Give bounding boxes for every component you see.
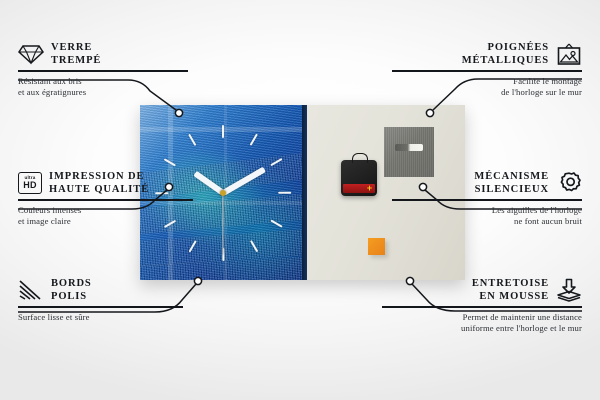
foam-spacer: [368, 238, 385, 255]
callout-sub-line2: ne font aucun bruit: [514, 216, 582, 226]
callout-rule: [18, 306, 183, 308]
callout-sub-line1: Permet de maintenir une distance: [463, 312, 582, 322]
infographic-canvas: + VERRE: [0, 0, 600, 400]
callout-title-line2: SILENCIEUX: [475, 184, 549, 195]
callout-title: POIGNÉES MÉTALLIQUES: [462, 41, 549, 67]
callout-verre-trempe: VERRE TREMPÉ Résistant aux bris et aux é…: [18, 41, 188, 98]
callout-title: BORDS POLIS: [51, 277, 92, 303]
callout-sub-line2: et image claire: [18, 216, 71, 226]
callout-header: POIGNÉES MÉTALLIQUES: [392, 41, 582, 67]
callout-rule: [18, 199, 193, 201]
battery-plus-terminal: +: [366, 185, 373, 192]
clock-tick: [249, 134, 258, 146]
callout-header: ENTRETOISE EN MOUSSE: [382, 277, 582, 303]
callout-title: IMPRESSION DE HAUTE QUALITÉ: [49, 170, 149, 196]
callout-bords-polis: BORDS POLIS Surface lisse et sûre: [18, 277, 183, 323]
callout-title-line2: TREMPÉ: [51, 55, 101, 66]
callout-sub-line2: de l'horloge sur le mur: [501, 87, 582, 97]
clock-hand-cap: [220, 190, 226, 196]
picture-frame-icon: [556, 43, 582, 66]
clock-tick: [278, 192, 291, 194]
clock-tick: [188, 134, 197, 146]
callout-title-line1: IMPRESSION DE: [49, 171, 144, 182]
callout-sub-line1: Facilite le montage: [513, 76, 582, 86]
callout-title-line1: VERRE: [51, 42, 92, 53]
callout-subtitle: Couleurs intenses et image claire: [18, 205, 193, 227]
callout-sub-line1: Résistant aux bris: [18, 76, 82, 86]
callout-mecanisme-silencieux: MÉCANISME SILENCIEUX Les aiguilles de l'…: [392, 170, 582, 227]
callout-title-line1: POIGNÉES: [488, 42, 549, 53]
mechanism-hanger-loop: [352, 153, 368, 163]
callout-impression-haute-qualite: ultra HD IMPRESSION DE HAUTE QUALITÉ Cou…: [18, 170, 193, 227]
hd-badge-big-text: HD: [23, 181, 37, 190]
callout-sub-line1: Surface lisse et sûre: [18, 312, 90, 322]
clock-mechanism: +: [341, 160, 377, 196]
callout-subtitle: Surface lisse et sûre: [18, 312, 183, 323]
diamond-icon: [18, 43, 44, 65]
callout-sub-line1: Couleurs intenses: [18, 205, 81, 215]
callout-rule: [392, 199, 582, 201]
callout-subtitle: Permet de maintenir une distance uniform…: [382, 312, 582, 334]
callout-entretoise-en-mousse: ENTRETOISE EN MOUSSE Permet de maintenir…: [382, 277, 582, 334]
callout-sub-line1: Les aiguilles de l'horloge: [492, 205, 582, 215]
callout-title: MÉCANISME SILENCIEUX: [474, 170, 549, 196]
callout-header: BORDS POLIS: [18, 277, 183, 303]
callout-subtitle: Facilite le montage de l'horloge sur le …: [392, 76, 582, 98]
gear-icon: [556, 171, 582, 195]
arrow-down-pad-icon: [556, 278, 582, 302]
callout-header: MÉCANISME SILENCIEUX: [392, 170, 582, 196]
ultra-hd-badge-icon: ultra HD: [18, 172, 42, 194]
callout-subtitle: Résistant aux bris et aux égratignures: [18, 76, 188, 98]
callout-subtitle: Les aiguilles de l'horloge ne font aucun…: [392, 205, 582, 227]
callout-title-line2: EN MOUSSE: [479, 291, 549, 302]
callout-header: ultra HD IMPRESSION DE HAUTE QUALITÉ: [18, 170, 193, 196]
callout-poignees-metalliques: POIGNÉES MÉTALLIQUES Facilite le montage…: [392, 41, 582, 98]
callout-rule: [382, 306, 582, 308]
callout-title-line1: BORDS: [51, 278, 92, 289]
callout-rule: [392, 70, 582, 72]
callout-title-line1: MÉCANISME: [474, 171, 549, 182]
callout-title-line1: ENTRETOISE: [472, 278, 549, 289]
diagonal-lines-icon: [18, 279, 44, 301]
hanger-keyhole-slot: [395, 144, 423, 151]
callout-header: VERRE TREMPÉ: [18, 41, 188, 67]
callout-rule: [18, 70, 188, 72]
callout-sub-line2: uniforme entre l'horloge et le mur: [461, 323, 582, 333]
callout-title-line2: MÉTALLIQUES: [462, 55, 549, 66]
battery: +: [343, 184, 375, 193]
callout-title: ENTRETOISE EN MOUSSE: [472, 277, 549, 303]
callout-title: VERRE TREMPÉ: [51, 41, 101, 67]
callout-title-line2: POLIS: [51, 291, 87, 302]
callout-sub-line2: et aux égratignures: [18, 87, 86, 97]
callout-title-line2: HAUTE QUALITÉ: [49, 184, 149, 195]
